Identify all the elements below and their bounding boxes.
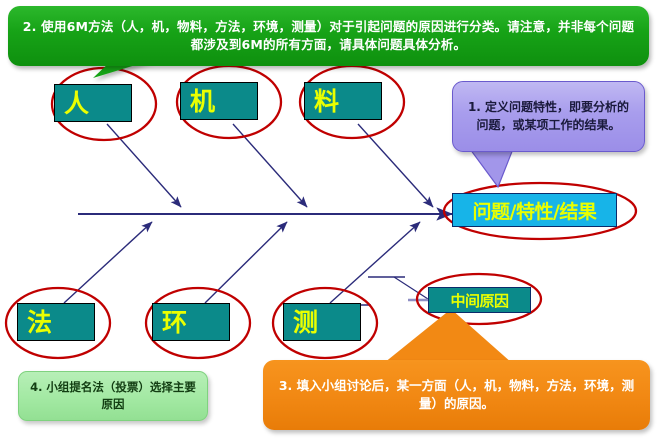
category-label-huan: 环 [162, 310, 187, 335]
category-box-ji[interactable]: 机 [180, 82, 258, 120]
bone-fa [64, 222, 152, 303]
category-box-liao[interactable]: 料 [304, 82, 382, 120]
note-step-2: 2. 使用6M方法（人，机，物料，方法，环境，测量）对于引起问题的原因进行分类。… [8, 6, 649, 66]
note-step-4: 4. 小组提名法（投票）选择主要原因 [18, 371, 208, 421]
fishbone-diagram-canvas: 2. 使用6M方法（人，机，物料，方法，环境，测量）对于引起问题的原因进行分类。… [0, 0, 657, 446]
note-step-4-text: 4. 小组提名法（投票）选择主要原因 [27, 379, 199, 412]
bone-liao [358, 124, 433, 207]
bone-ren [107, 124, 181, 207]
bone-ji [233, 124, 307, 207]
bone-huan [205, 222, 287, 303]
result-box-label: 问题/特性/结果 [473, 197, 597, 224]
category-label-ji: 机 [190, 89, 215, 114]
note-step-2-text: 2. 使用6M方法（人，机，物料，方法，环境，测量）对于引起问题的原因进行分类。… [20, 18, 637, 54]
category-box-ce[interactable]: 测 [283, 303, 361, 341]
category-label-ce: 测 [293, 310, 318, 335]
orange-note-tail [384, 309, 512, 363]
note-step-1: 1. 定义问题特性，即要分析的问题，或某项工作的结果。 [452, 81, 645, 152]
category-box-huan[interactable]: 环 [152, 303, 230, 341]
note-step-3-text: 3. 填入小组讨论后，某一方面（人，机，物料，方法，环境，测量）的原因。 [275, 377, 638, 413]
result-box[interactable]: 问题/特性/结果 [452, 193, 617, 227]
bone-ce [330, 222, 420, 303]
category-box-fa[interactable]: 法 [17, 303, 95, 341]
purple-note-tail [470, 149, 513, 187]
category-label-liao: 料 [314, 89, 339, 114]
category-box-ren[interactable]: 人 [54, 84, 132, 122]
category-label-fa: 法 [27, 310, 52, 335]
note-step-3: 3. 填入小组讨论后，某一方面（人，机，物料，方法，环境，测量）的原因。 [263, 360, 650, 430]
note-step-1-text: 1. 定义问题特性，即要分析的问题，或某项工作的结果。 [462, 99, 635, 134]
category-label-ren: 人 [64, 91, 89, 116]
intermediate-cause-box[interactable]: 中间原因 [428, 287, 531, 313]
sub-bone-ticks [334, 277, 430, 305]
intermediate-cause-label: 中间原因 [450, 290, 508, 311]
